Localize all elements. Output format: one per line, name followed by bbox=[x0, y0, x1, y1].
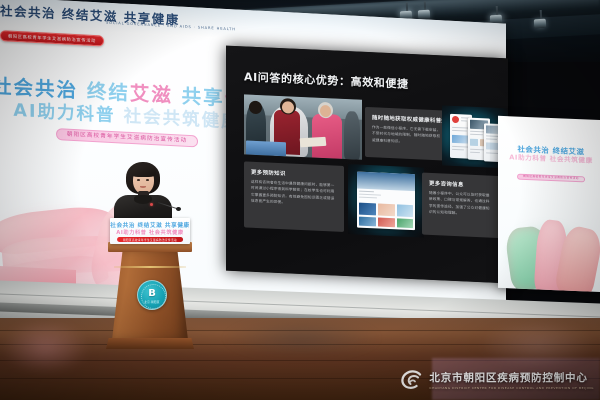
card-body: 这样有咨询者在生活中遇到健康问题时，能够第一时间通过小程序得到科学解答；在校学生… bbox=[251, 179, 337, 208]
presentation-slide: AI问答的核心优势：高效和便捷 随时随地获取权威健康科普知识 bbox=[226, 46, 508, 284]
floor-reflection-center bbox=[222, 318, 382, 358]
cdc-logo-icon bbox=[398, 370, 424, 390]
right-screen-pill: 朝阳区高校青年学生艾滋病防治宣传活动 bbox=[517, 174, 585, 183]
backdrop-main-slogan: 社会共治 终结艾滋 共享健康 AI助力科普 社会共筑健康 朝阳区高校青年学生艾滋… bbox=[0, 75, 262, 151]
right-screen-slogan: 社会共治 终结艾滋 AI助力科普 社会共筑健康 朝阳区高校青年学生艾滋病防治宣传… bbox=[504, 144, 598, 185]
slide-media-web-mockup bbox=[348, 164, 424, 237]
card-heading: 随时随地获取权威健康科普知识 bbox=[372, 113, 444, 124]
podium-gold-trim bbox=[114, 266, 186, 268]
card-body: 随着小程序中，公众可以及时获取最新政策、口碑与常规解答，也通过科学的宣传途径，加… bbox=[429, 190, 493, 218]
podium-sign-badge: 朝阳区高校青年学生艾滋病防治宣传活动 bbox=[117, 237, 183, 242]
podium-base bbox=[106, 338, 194, 349]
card-heading: 更多预防知识 bbox=[251, 168, 337, 180]
floor-reflection-right bbox=[478, 320, 598, 370]
backdrop-event-pill: 朝阳区高校青年学生艾滋病防治宣传活动 bbox=[56, 128, 199, 147]
podium: 社会共治 终结艾滋 共享健康 AI助力科普 社会共筑健康 朝阳区高校青年学生艾滋… bbox=[98, 222, 202, 350]
right-side-led-screen: 社会共治 终结艾滋 AI助力科普 社会共筑健康 朝阳区高校青年学生艾滋病防治宣传… bbox=[498, 116, 600, 292]
card-heading: 更多咨询信息 bbox=[429, 179, 493, 190]
card-body: 作为一款微信小程序，它无需下载安装，不受时代与地域的限制，随时随地获取权威健康科… bbox=[372, 124, 444, 146]
seal-monogram: B bbox=[138, 288, 166, 299]
backdrop-red-badge: 朝阳区高校青年学生艾滋病防治宣传活动 bbox=[0, 30, 104, 46]
slide-title: AI问答的核心优势：高效和便捷 bbox=[244, 68, 409, 91]
speaker-eye-right bbox=[146, 179, 149, 181]
microphone-head bbox=[176, 207, 181, 211]
podium-sign-line-2: AI助力科普 社会共筑健康 bbox=[110, 229, 190, 236]
slide-photo-outreach bbox=[244, 94, 362, 159]
floor-reflection-left bbox=[0, 320, 90, 374]
slogan-seg: 艾滋 bbox=[130, 82, 173, 107]
slogan-seg: AI助力科普 bbox=[13, 101, 115, 126]
cdc-name-en: CHAOYANG DISTRICT CENTER FOR DISEASE CON… bbox=[429, 386, 594, 390]
speaker-lapel-pin bbox=[150, 203, 153, 206]
slide-card-prevention: 更多预防知识 这样有咨询者在生活中遇到健康问题时，能够第一时间通过小程序得到科学… bbox=[244, 161, 344, 232]
seal-caption: 北京·朝阳区 bbox=[138, 300, 166, 304]
podium-emblem-seal: B 北京·朝阳区 bbox=[137, 280, 167, 310]
speaker-eye-left bbox=[137, 179, 140, 181]
podium-sign-board: 社会共治 终结艾滋 共享健康 AI助力科普 社会共筑健康 朝阳区高校青年学生艾滋… bbox=[110, 218, 190, 244]
slogan-seg: 终结 bbox=[87, 80, 130, 105]
cdc-watermark: 北京市朝阳区疾病预防控制中心 CHAOYANG DISTRICT CENTER … bbox=[398, 368, 594, 392]
ceiling-light-fixture bbox=[418, 10, 430, 20]
slide-canvas: AI问答的核心优势：高效和便捷 随时随地获取权威健康科普知识 bbox=[226, 46, 508, 284]
speaker-fringe bbox=[131, 166, 156, 177]
right-screen-hands-illustration bbox=[502, 210, 600, 292]
slide-card-anytime: 随时随地获取权威健康科普知识 作为一款微信小程序，它无需下载安装，不受时代与地域… bbox=[365, 107, 451, 161]
cdc-name-cn: 北京市朝阳区疾病预防控制中心 bbox=[429, 370, 594, 385]
slogan-seg: 社会共治 bbox=[0, 75, 78, 103]
cdc-text-block: 北京市朝阳区疾病预防控制中心 CHAOYANG DISTRICT CENTER … bbox=[429, 370, 594, 390]
ceiling-light-fixture bbox=[534, 19, 546, 29]
podium-sign-line-1: 社会共治 终结艾滋 共享健康 bbox=[110, 221, 190, 229]
slide-card-consult: 更多咨询信息 随着小程序中，公众可以及时获取最新政策、口碑与常规解答，也通过科学… bbox=[422, 172, 500, 238]
screenshot-stage: 社会共治 终结艾滋 共享健康 SOCIAL GOVERNANCE · END A… bbox=[0, 0, 600, 400]
slogan-seg: 共享 bbox=[182, 85, 225, 110]
